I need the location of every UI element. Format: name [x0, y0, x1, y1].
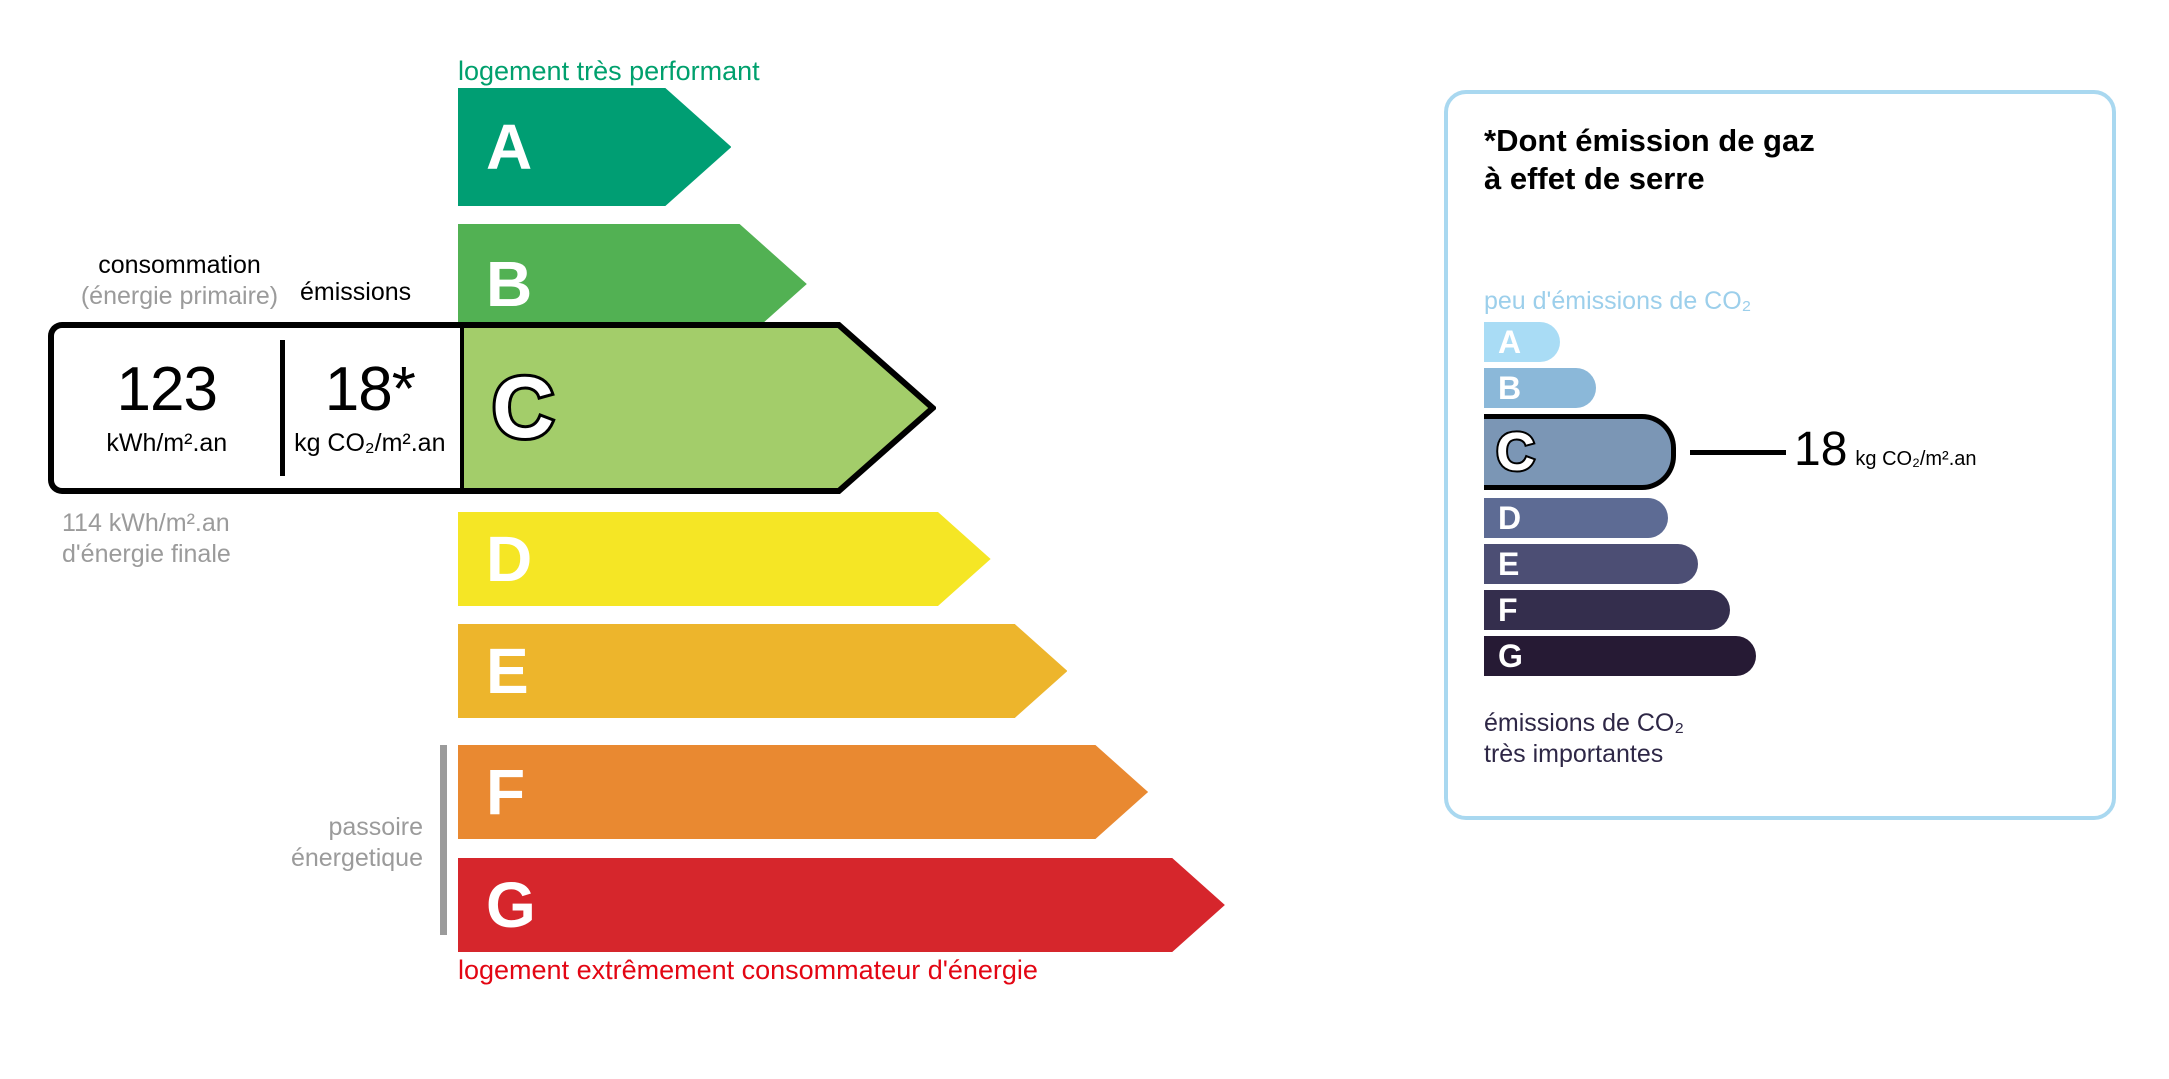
arrow-letter-e: E — [486, 639, 529, 703]
arrow-shape-a: A — [458, 88, 731, 206]
co2-title-line1: *Dont émission de gaz — [1484, 122, 1815, 160]
energy-class-arrow-d: D — [458, 512, 991, 606]
arrow-shape-d: D — [458, 512, 991, 606]
emissions-caption: émissions — [300, 278, 411, 307]
consumption-caption-sub: (énergie primaire) — [62, 281, 297, 312]
consumption-unit: kWh/m².an — [106, 429, 227, 458]
co2-value-unit: kg CO₂/m².an — [1855, 448, 1976, 470]
arrow-shape-f: F — [458, 745, 1148, 839]
energy-class-arrow-g: G — [458, 858, 1225, 952]
co2-value: 18kg CO₂/m².an — [1794, 426, 1977, 474]
value-divider — [280, 340, 285, 476]
arrow-letter-f: F — [486, 760, 525, 824]
final-energy-note: 114 kWh/m².an d'énergie finale — [62, 508, 231, 571]
emissions-value: 18* — [325, 359, 415, 421]
final-energy-line1: 114 kWh/m².an — [62, 508, 231, 539]
consumption-caption: consommation (énergie primaire) — [62, 250, 297, 311]
arrow-shape-g: G — [458, 858, 1225, 952]
passoire-label: passoire énergetique — [195, 812, 423, 875]
arrow-letter-b: B — [486, 252, 532, 316]
emissions-value-cell: 18* kg CO₂/m².an — [280, 328, 460, 488]
co2-leader-line — [1690, 450, 1786, 455]
co2-bar-e: E — [1484, 544, 1698, 584]
energy-class-arrow-e: E — [458, 624, 1067, 718]
co2-panel: *Dont émission de gaz à effet de serre p… — [1444, 90, 2116, 820]
co2-bar-letter-c: C — [1496, 425, 1535, 479]
co2-bottom-label-line2: très importantes — [1484, 739, 1684, 770]
co2-bar-letter-f: F — [1498, 594, 1518, 626]
co2-bar-letter-g: G — [1498, 640, 1523, 672]
energy-class-arrow-f: F — [458, 745, 1148, 839]
value-box: 123 kWh/m².an 18* kg CO₂/m².an — [48, 322, 460, 494]
co2-title-line2: à effet de serre — [1484, 160, 1815, 198]
co2-bar-letter-a: A — [1498, 326, 1521, 358]
consumption-value-cell: 123 kWh/m².an — [54, 328, 280, 488]
energy-class-arrow-a: A — [458, 88, 731, 206]
co2-bar-d: D — [1484, 498, 1668, 538]
consumption-value: 123 — [117, 359, 217, 421]
arrow-letter-d: D — [486, 527, 532, 591]
dpe-label: logement très performant ABCDEFG passoir… — [0, 0, 2169, 1079]
passoire-label-line2: énergetique — [195, 843, 423, 874]
passoire-bracket — [440, 745, 447, 935]
co2-value-number: 18 — [1794, 423, 1847, 476]
co2-bar-g: G — [1484, 636, 1756, 676]
co2-bottom-label-line1: émissions de CO₂ — [1484, 708, 1684, 739]
arrow-letter-g: G — [486, 873, 536, 937]
co2-bottom-label: émissions de CO₂ très importantes — [1484, 708, 1684, 771]
co2-bar-f: F — [1484, 590, 1730, 630]
co2-panel-title: *Dont émission de gaz à effet de serre — [1484, 122, 1815, 198]
passoire-label-line1: passoire — [195, 812, 423, 843]
emissions-unit: kg CO₂/m².an — [294, 429, 445, 458]
co2-bar-c: C — [1484, 414, 1676, 490]
arrow-shape-e: E — [458, 624, 1067, 718]
co2-bar-letter-e: E — [1498, 548, 1519, 580]
co2-top-label: peu d'émissions de CO₂ — [1484, 287, 1751, 316]
arrow-letter-a: A — [486, 115, 532, 179]
co2-bar-letter-b: B — [1498, 372, 1521, 404]
arrow-shape-c: C — [458, 322, 936, 494]
co2-bar-b: B — [1484, 368, 1596, 408]
scale-bottom-label: logement extrêmement consommateur d'éner… — [458, 955, 1038, 986]
consumption-caption-main: consommation — [98, 251, 261, 279]
co2-bar-a: A — [1484, 322, 1560, 362]
co2-bar-letter-d: D — [1498, 502, 1521, 534]
scale-top-label: logement très performant — [458, 56, 760, 87]
arrow-letter-c: C — [492, 365, 554, 451]
final-energy-line2: d'énergie finale — [62, 539, 231, 570]
energy-class-arrow-c: C — [458, 322, 936, 494]
